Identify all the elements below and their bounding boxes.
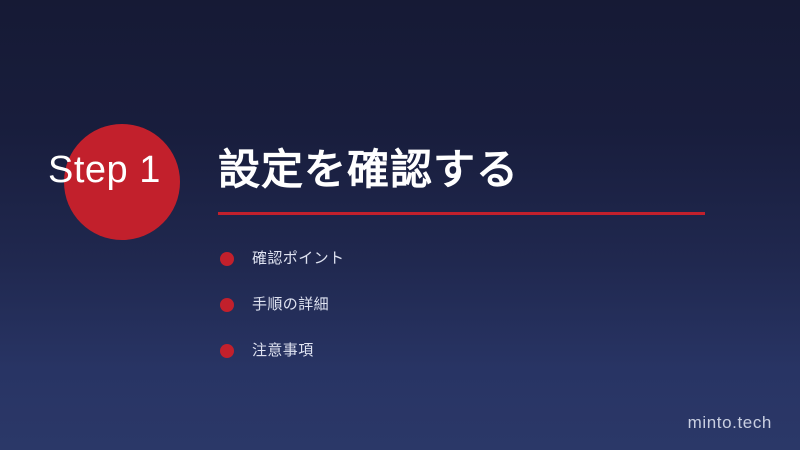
- step-badge: Step 1: [42, 120, 202, 225]
- bullet-dot-icon: [220, 344, 234, 358]
- watermark-branding: minto.tech: [688, 412, 772, 434]
- bullet-dot-icon: [220, 252, 234, 266]
- bullet-list: 確認ポイント 手順の詳細 注意事項: [220, 236, 690, 374]
- list-item-label: 手順の詳細: [252, 295, 329, 315]
- list-item-label: 確認ポイント: [252, 249, 344, 269]
- list-item: 注意事項: [220, 328, 690, 374]
- list-item: 手順の詳細: [220, 282, 690, 328]
- title-underline-rule: [218, 212, 705, 215]
- bullet-dot-icon: [220, 298, 234, 312]
- slide-title: 設定を確認する: [218, 144, 718, 196]
- headline-block: 設定を確認する: [218, 144, 718, 215]
- list-item-label: 注意事項: [252, 341, 314, 361]
- list-item: 確認ポイント: [220, 236, 690, 282]
- step-number-label: Step 1: [42, 147, 202, 193]
- presentation-slide: Step 1 設定を確認する 確認ポイント 手順の詳細 注意事項 minto.t…: [0, 0, 800, 450]
